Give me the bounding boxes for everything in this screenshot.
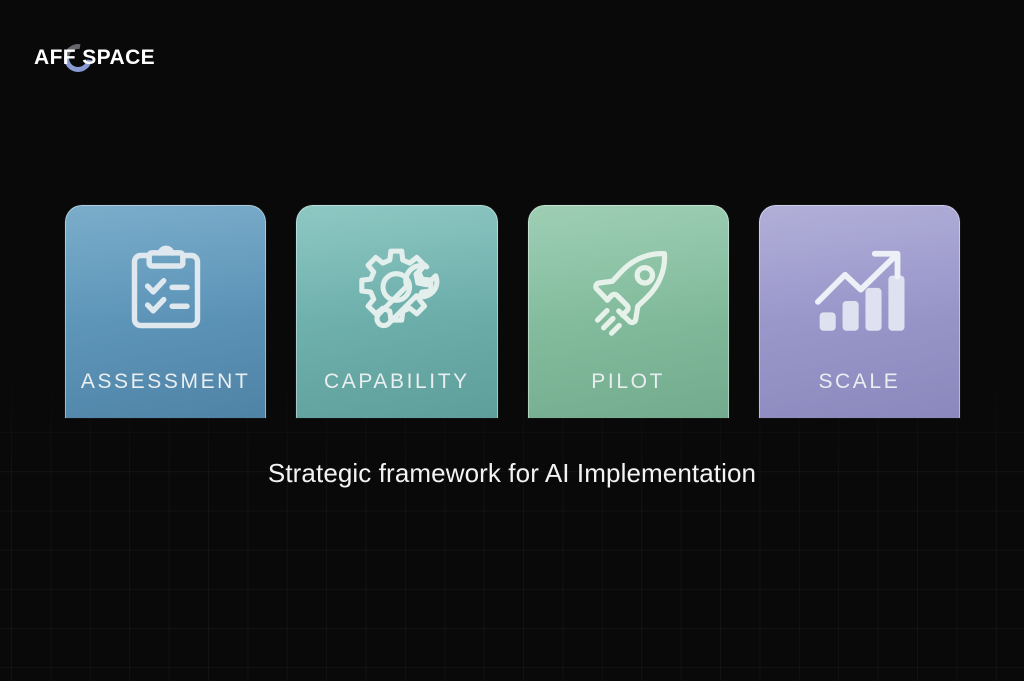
framework-card-row: ASSESSMENT CAPABILITY bbox=[65, 205, 960, 418]
gear-wrench-icon bbox=[331, 231, 463, 356]
card-label: CAPABILITY bbox=[324, 370, 470, 394]
framework-card-pilot[interactable]: PILOT bbox=[528, 205, 729, 418]
framework-card-assessment[interactable]: ASSESSMENT bbox=[65, 205, 266, 418]
clipboard-checklist-icon bbox=[100, 231, 232, 356]
brand-wordmark: AFF SPACE bbox=[34, 42, 155, 74]
growth-bar-chart-arrow-icon bbox=[793, 231, 925, 356]
page-caption: Strategic framework for AI Implementatio… bbox=[0, 458, 1024, 489]
brand-logo[interactable]: AFF SPACE bbox=[34, 42, 155, 74]
card-label: SCALE bbox=[818, 370, 900, 394]
framework-card-scale[interactable]: SCALE bbox=[759, 205, 960, 418]
framework-card-capability[interactable]: CAPABILITY bbox=[296, 205, 497, 418]
rocket-icon bbox=[562, 231, 694, 356]
card-label: PILOT bbox=[591, 370, 665, 394]
slide-canvas: AFF SPACE ASSESSMENT bbox=[0, 0, 1024, 681]
card-label: ASSESSMENT bbox=[81, 370, 251, 394]
